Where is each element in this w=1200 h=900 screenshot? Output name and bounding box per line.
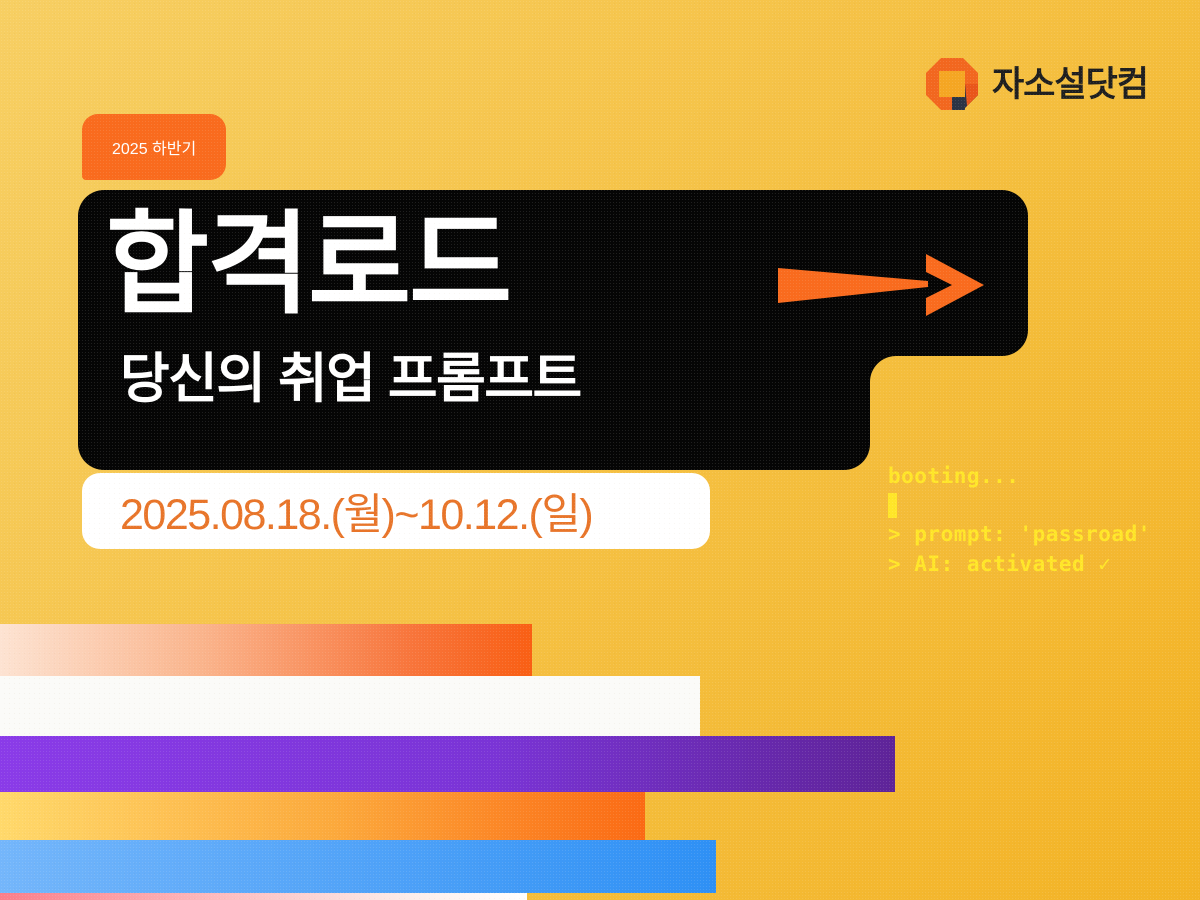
bar-white [0,676,700,736]
jasoseol-octagon-logo-icon [926,58,978,110]
brand-logo[interactable]: 자소설닷컴 [926,58,1148,110]
promotional-banner: 자소설닷컴 2025 하반기 합격로드 당신의 취업 프롬프트 2025.08.… [0,0,1200,900]
season-badge: 2025 하반기 [82,114,226,180]
block-cursor-icon [888,493,897,518]
season-badge-label: 2025 하반기 [112,135,196,159]
hero-title-block: 합격로드 당신의 취업 프롬프트 [106,205,581,406]
terminal-line-prompt: > prompt: 'passroad' [888,520,1151,550]
bar-blue [0,840,716,893]
terminal-line-booting: booting... [888,462,1151,492]
decorative-bar-graphic [0,624,1200,900]
bar-purple [0,736,895,792]
event-date-pill: 2025.08.18.(월)~10.12.(일) [82,473,710,549]
page-subtitle: 당신의 취업 프롬프트 [120,352,581,406]
tapered-right-arrow-icon [776,250,986,320]
bar-yellow-orange [0,792,645,840]
terminal-line-ai: > AI: activated ✓ [888,550,1151,580]
bar-orange-gradient-top [0,624,532,676]
terminal-cursor-line [888,492,1151,520]
bar-pink-white [0,893,527,900]
page-title: 합격로드 [106,205,581,326]
event-date-range: 2025.08.18.(월)~10.12.(일) [82,480,592,542]
terminal-readout: booting... > prompt: 'passroad' > AI: ac… [888,462,1151,579]
brand-name: 자소설닷컴 [992,67,1148,102]
